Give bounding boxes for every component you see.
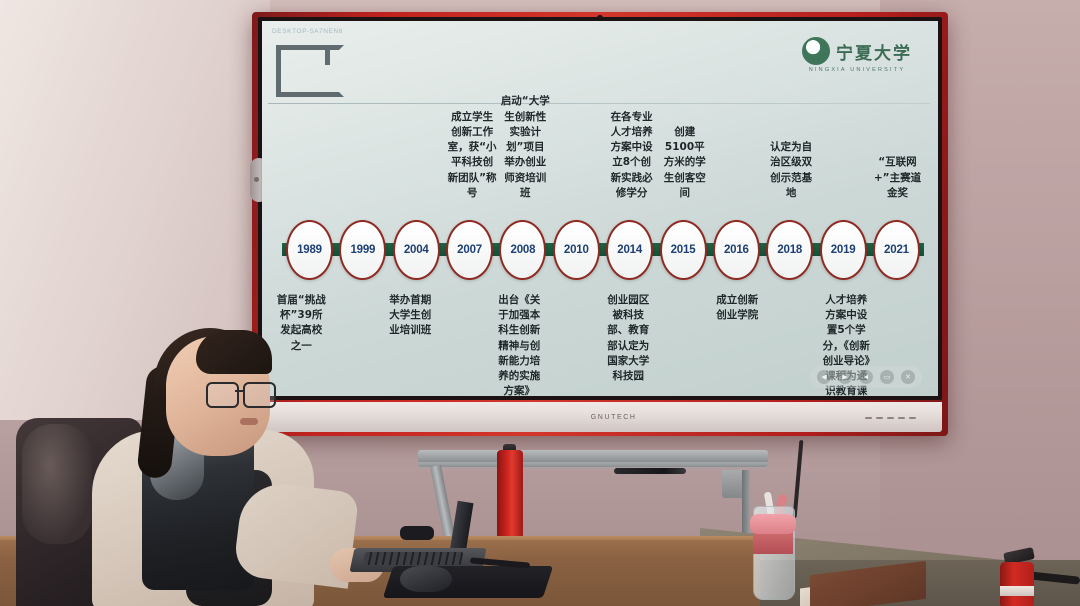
timeline-note: 出台《关于加强本科生创新精神与创新能力培养的实施方案》 <box>494 293 545 396</box>
timeline-note: “互联网+”主赛道金奖 <box>873 155 922 201</box>
note-cell <box>392 115 445 201</box>
note-cell <box>552 115 605 201</box>
note-cell: 认定为自治区级双创示范基地 <box>765 115 818 201</box>
play-button[interactable]: ▶ <box>838 370 852 384</box>
year-label: 2016 <box>724 244 749 256</box>
year-label: 2008 <box>511 244 536 256</box>
timeline-note: 创建5100平方米的学生创客空间 <box>660 125 709 201</box>
note-cell: 出台《关于加强本科生创新精神与创新能力培养的实施方案》 <box>492 293 547 396</box>
speaker-vents-icon <box>865 417 916 419</box>
timeline-node[interactable]: 2015 <box>660 220 707 280</box>
timeline-note: 举办首期大学生创业培训班 <box>385 293 436 339</box>
person-mouth <box>240 418 258 425</box>
computer-mouse[interactable] <box>400 566 452 592</box>
note-cell <box>818 115 871 201</box>
year-label: 2015 <box>671 244 696 256</box>
display-screen[interactable]: DESKTOP-5A7NEN8 宁夏大学 NINGXIA UNIVERSITY … <box>262 21 938 396</box>
volume-button[interactable]: ◄ <box>859 370 873 384</box>
logo-name-cn: 宁夏大学 <box>836 39 912 64</box>
previous-button[interactable]: ◀ <box>817 370 831 384</box>
logo-name-en: NINGXIA UNIVERSITY <box>809 67 905 73</box>
year-label: 1999 <box>350 244 375 256</box>
timeline-note: 首届“挑战杯”39所发起高校之一 <box>276 293 327 354</box>
note-cell <box>329 293 384 396</box>
eyeglasses-icon <box>206 382 272 404</box>
logo-row: 宁夏大学 <box>802 37 912 65</box>
note-cell: 成立创新创业学院 <box>710 293 765 396</box>
glasses-bridge <box>235 390 243 392</box>
timeline-node[interactable]: 2008 <box>499 220 546 280</box>
header-divider <box>268 103 930 104</box>
year-label: 2007 <box>457 244 482 256</box>
university-seal-icon <box>802 37 830 65</box>
note-cell <box>547 293 602 396</box>
note-cell: 创业园区被科技部、教育部认定为国家大学科技园 <box>601 293 656 396</box>
timeline-node[interactable]: 1999 <box>339 220 386 280</box>
year-label: 2010 <box>564 244 589 256</box>
timeline-node[interactable]: 2014 <box>606 220 653 280</box>
note-cell <box>656 293 711 396</box>
desktop-name-tag: DESKTOP-5A7NEN8 <box>272 28 343 35</box>
timeline-note: 认定为自治区级双创示范基地 <box>767 140 816 201</box>
laptop-keyboard[interactable] <box>363 552 464 565</box>
display-chin-bar: GNUTECH <box>258 402 942 432</box>
timeline-node[interactable]: 2016 <box>713 220 760 280</box>
year-label: 2004 <box>404 244 429 256</box>
timeline-note: 创业园区被科技部、教育部认定为国家大学科技园 <box>603 293 654 384</box>
touchscreen-display[interactable]: DESKTOP-5A7NEN8 宁夏大学 NINGXIA UNIVERSITY … <box>252 12 948 436</box>
note-cell: 在各专业人才培养方案中设立8个创新实践必修学分 <box>605 115 658 201</box>
display-brand-label: GNUTECH <box>591 414 637 421</box>
person-hair-fringe <box>196 330 272 374</box>
note-cell: 举办首期大学生创业培训班 <box>383 293 438 396</box>
timeline-node[interactable]: 2018 <box>766 220 813 280</box>
presentation-slide: DESKTOP-5A7NEN8 宁夏大学 NINGXIA UNIVERSITY … <box>262 21 938 396</box>
extinguisher-label <box>1000 586 1034 596</box>
note-cell: 首届“挑战杯”39所发起高校之一 <box>274 293 329 396</box>
media-control-bar[interactable]: ◀ ▶ ◄ ▭ ✕ <box>810 366 922 388</box>
year-label: 2014 <box>617 244 642 256</box>
chair-fur-throw <box>22 424 92 544</box>
note-cell <box>438 293 493 396</box>
desk-small-device[interactable] <box>400 526 434 540</box>
timeline-note: 在各专业人才培养方案中设立8个创新实践必修学分 <box>607 110 656 201</box>
university-logo: 宁夏大学 NINGXIA UNIVERSITY <box>802 37 912 73</box>
timeline-note: 成立创新创业学院 <box>712 293 763 323</box>
timeline-node[interactable]: 1989 <box>286 220 333 280</box>
year-label: 2018 <box>777 244 802 256</box>
timeline-year-nodes: 1989 1999 2004 2007 2008 2010 2014 2015 … <box>282 218 924 282</box>
note-cell <box>339 115 392 201</box>
year-label: 1989 <box>297 244 322 256</box>
timeline-node[interactable]: 2010 <box>553 220 600 280</box>
glasses-left-lens <box>206 382 239 408</box>
bottle-cap[interactable] <box>750 514 796 534</box>
timeline-node[interactable]: 2004 <box>393 220 440 280</box>
year-label: 2021 <box>884 244 909 256</box>
glasses-right-lens <box>243 382 276 408</box>
fire-extinguisher[interactable] <box>1000 562 1034 606</box>
timeline-node[interactable]: 2021 <box>873 220 920 280</box>
timeline-note: 启动“大学生创新性实验计划”项目 举办创业师资培训班 <box>501 94 550 201</box>
note-cell <box>711 115 764 201</box>
close-button[interactable]: ✕ <box>901 370 915 384</box>
timeline-node[interactable]: 2007 <box>446 220 493 280</box>
note-cell <box>286 115 339 201</box>
timeline-note: 成立学生创新工作室，获“小平科技创新团队”称号 <box>448 110 497 201</box>
timeline-notes-above: 成立学生创新工作室，获“小平科技创新团队”称号 启动“大学生创新性实验计划”项目… <box>286 115 924 201</box>
note-cell: 启动“大学生创新性实验计划”项目 举办创业师资培训班 <box>499 115 552 201</box>
fullscreen-button[interactable]: ▭ <box>880 370 894 384</box>
year-label: 2019 <box>831 244 856 256</box>
title-frame-icon <box>276 45 344 97</box>
note-cell: 成立学生创新工作室，获“小平科技创新团队”称号 <box>446 115 499 201</box>
timeline-node[interactable]: 2019 <box>820 220 867 280</box>
room-scene: DESKTOP-5A7NEN8 宁夏大学 NINGXIA UNIVERSITY … <box>0 0 1080 606</box>
stylus-pen[interactable] <box>614 468 686 474</box>
note-cell: 创建5100平方米的学生创客空间 <box>658 115 711 201</box>
display-stand-crossbar-shadow <box>418 462 768 471</box>
note-cell: “互联网+”主赛道金奖 <box>871 115 924 201</box>
